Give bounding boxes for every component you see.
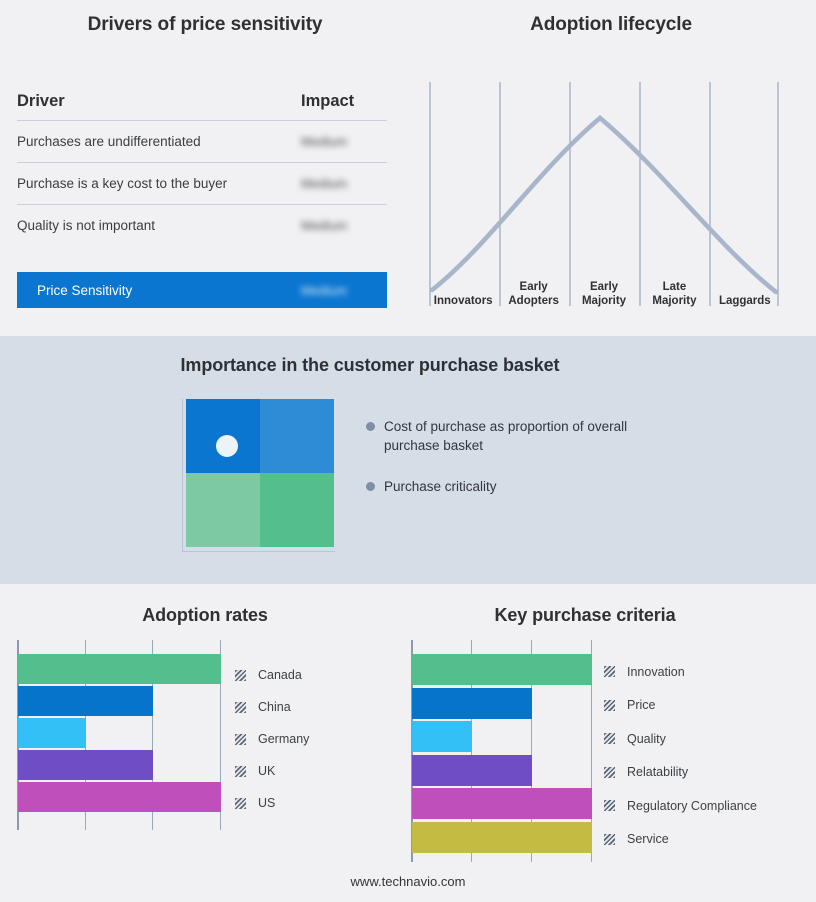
legend-item: Quality (604, 722, 757, 756)
key-purchase-criteria-chart (411, 640, 593, 862)
bar-price (412, 688, 532, 719)
bullet-dot-icon (366, 422, 375, 431)
legend-label: Cost of purchase as proportion of overal… (384, 417, 634, 455)
hatch-swatch-icon (604, 700, 615, 711)
bar-quality (412, 721, 472, 752)
table-row: Purchases are undifferentiated Medium (17, 121, 387, 163)
legend-item: Canada (235, 659, 309, 691)
price-sensitivity-impact-redacted: Medium (301, 283, 387, 298)
adoption-bell-curve (432, 118, 776, 292)
hatch-swatch-icon (235, 670, 246, 681)
legend-item: Innovation (604, 655, 757, 689)
table-row: Purchase is a key cost to the buyer Medi… (17, 163, 387, 205)
position-marker-dot (216, 435, 238, 457)
stage-line1: Early (520, 280, 548, 294)
legend-item: Cost of purchase as proportion of overal… (366, 417, 656, 455)
adoption-rates-title: Adoption rates (0, 605, 410, 626)
stage-line2: Innovators (434, 294, 493, 308)
bar-regulatory-compliance (412, 788, 592, 819)
stage-line1: Late (663, 280, 687, 294)
hatch-swatch-icon (604, 733, 615, 744)
bar-service (412, 822, 592, 853)
key-purchase-criteria-legend: InnovationPriceQualityRelatabilityRegula… (604, 655, 757, 856)
legend-label: Quality (627, 732, 666, 746)
legend-label: Service (627, 832, 669, 846)
lifecycle-panel-title: Adoption lifecycle (406, 14, 816, 36)
legend-item: Purchase criticality (366, 477, 656, 496)
stage-early-adopters: Early Adopters (498, 275, 568, 309)
infographic-page: Drivers of price sensitivity Driver Impa… (0, 0, 816, 902)
legend-label: Innovation (627, 665, 685, 679)
adoption-lifecycle-chart (428, 78, 780, 308)
hatch-swatch-icon (604, 834, 615, 845)
legend-item: Germany (235, 723, 309, 755)
table-row: Quality is not important Medium (17, 205, 387, 246)
hatch-swatch-icon (235, 702, 246, 713)
hatch-swatch-icon (604, 666, 615, 677)
bar-uk (18, 750, 153, 780)
price-sensitivity-label: Price Sensitivity (17, 283, 301, 298)
driver-name: Quality is not important (17, 218, 301, 233)
driver-name: Purchase is a key cost to the buyer (17, 176, 301, 191)
column-header-impact: Impact (301, 92, 387, 111)
column-header-driver: Driver (17, 92, 301, 111)
legend-item: Price (604, 689, 757, 723)
legend-label: Price (627, 698, 655, 712)
stage-line2: Majority (582, 294, 626, 308)
legend-label: UK (258, 764, 275, 778)
hatch-swatch-icon (235, 734, 246, 745)
quadrant-bottom-left (186, 473, 260, 547)
legend-label: Canada (258, 668, 302, 682)
legend-label: Relatability (627, 765, 688, 779)
lifecycle-svg (428, 78, 780, 308)
driver-impact-redacted: Medium (301, 176, 387, 191)
legend-label: Regulatory Compliance (627, 799, 757, 813)
basket-legend: Cost of purchase as proportion of overal… (366, 417, 656, 518)
drivers-table-header: Driver Impact (17, 92, 387, 121)
bar-innovation (412, 654, 592, 685)
key-purchase-criteria-title: Key purchase criteria (400, 605, 770, 626)
matrix-quadrants (186, 399, 334, 547)
legend-item: Regulatory Compliance (604, 789, 757, 823)
adoption-rates-legend: CanadaChinaGermanyUKUS (235, 659, 309, 819)
driver-impact-redacted: Medium (301, 134, 387, 149)
stage-innovators: Innovators (428, 275, 498, 309)
legend-label: China (258, 700, 291, 714)
bullet-dot-icon (366, 482, 375, 491)
stage-late-majority: Late Majority (639, 275, 709, 309)
stage-line2: Laggards (719, 294, 771, 308)
basket-panel-title: Importance in the customer purchase bask… (0, 355, 740, 376)
bar-china (18, 686, 153, 716)
driver-name: Purchases are undifferentiated (17, 134, 301, 149)
hatch-swatch-icon (604, 767, 615, 778)
price-sensitivity-summary-row: Price Sensitivity Medium (17, 272, 387, 308)
legend-item: Relatability (604, 756, 757, 790)
stage-laggards: Laggards (710, 275, 780, 309)
bar-canada (18, 654, 221, 684)
lifecycle-stage-labels: Innovators Early Adopters Early Majority… (428, 275, 780, 309)
legend-item: UK (235, 755, 309, 787)
legend-item: Service (604, 823, 757, 857)
stage-line2: Adopters (508, 294, 558, 308)
legend-label: Purchase criticality (384, 477, 497, 496)
stage-line2: Majority (652, 294, 696, 308)
adoption-rates-chart (17, 640, 222, 830)
legend-item: China (235, 691, 309, 723)
drivers-panel-title: Drivers of price sensitivity (0, 14, 410, 36)
footer-url: www.technavio.com (0, 874, 816, 889)
bar-us (18, 782, 221, 812)
driver-impact-redacted: Medium (301, 218, 387, 233)
legend-label: US (258, 796, 275, 810)
stage-dividers (430, 82, 778, 306)
legend-label: Germany (258, 732, 309, 746)
drivers-table: Driver Impact Purchases are undifferenti… (17, 92, 387, 246)
hatch-swatch-icon (604, 800, 615, 811)
hatch-swatch-icon (235, 766, 246, 777)
stage-line1: Early (590, 280, 618, 294)
stage-early-majority: Early Majority (569, 275, 639, 309)
legend-item: US (235, 787, 309, 819)
bar-relatability (412, 755, 532, 786)
quadrant-top-right (260, 399, 334, 473)
purchase-basket-matrix (182, 399, 335, 552)
quadrant-bottom-right (260, 473, 334, 547)
bar-germany (18, 718, 86, 748)
hatch-swatch-icon (235, 798, 246, 809)
